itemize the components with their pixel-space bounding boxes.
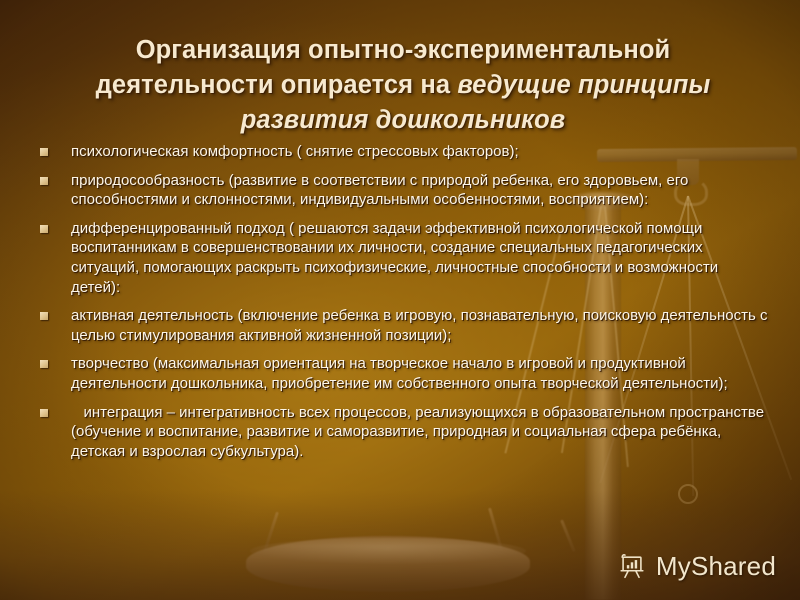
bullet-list: психологическая комфортность ( снятие ст… [40,142,770,470]
slide-title: Организация опытно-экспериментальной дея… [58,33,748,138]
myshared-watermark-label: MyShared [656,551,776,582]
list-item-text: творчество (максимальная ориентация на т… [71,354,770,393]
list-item-text: природосообразность (развитие в соответс… [71,171,770,210]
square-bullet-icon [40,409,48,417]
list-item: природосообразность (развитие в соответс… [40,171,770,210]
square-bullet-icon [40,148,48,156]
presentation-slide: Организация опытно-экспериментальной дея… [0,0,800,600]
myshared-watermark: MyShared [617,551,776,582]
list-item: интеграция – интегративность всех процес… [40,403,770,462]
presentation-board-chart-icon [617,552,647,582]
list-item-text: дифференцированный подход ( решаются зад… [71,219,770,297]
list-item-text: активная деятельность (включение ребенка… [71,306,770,345]
list-item-text: психологическая комфортность ( снятие ст… [71,142,770,162]
list-item: творчество (максимальная ориентация на т… [40,354,770,393]
square-bullet-icon [40,312,48,320]
list-item: психологическая комфортность ( снятие ст… [40,142,770,162]
square-bullet-icon [40,177,48,185]
square-bullet-icon [40,360,48,368]
square-bullet-icon [40,225,48,233]
list-item: активная деятельность (включение ребенка… [40,306,770,345]
list-item-text: интеграция – интегративность всех процес… [71,403,770,462]
list-item: дифференцированный подход ( решаются зад… [40,219,770,297]
